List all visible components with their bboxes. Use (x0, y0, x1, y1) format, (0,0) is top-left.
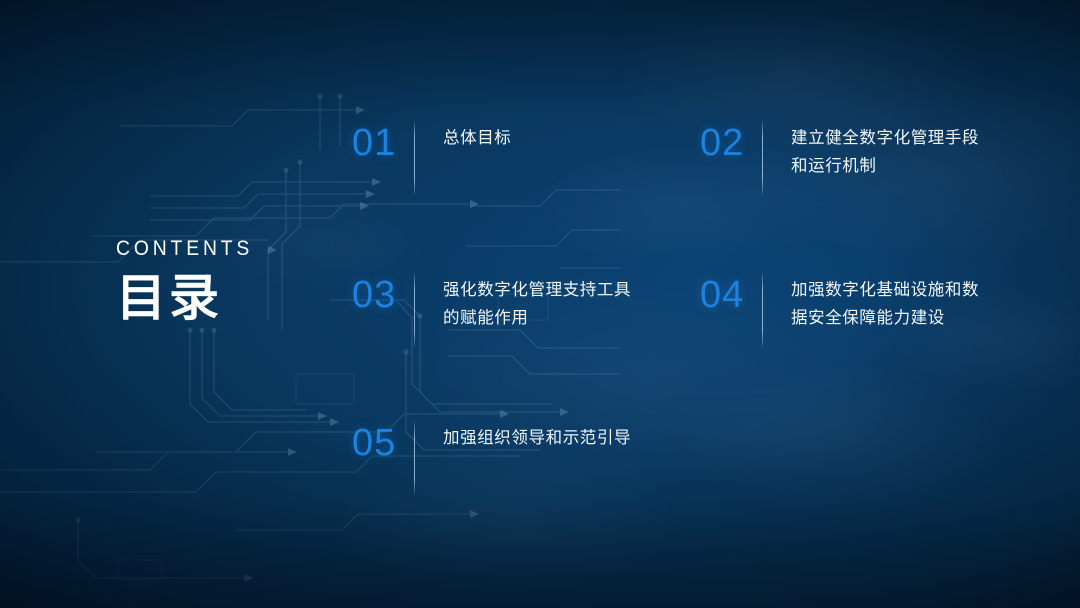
toc-label: 加强组织领导和示范引导 (443, 418, 631, 452)
toc-divider (414, 121, 415, 195)
toc-item-01[interactable]: 01 总体目标 (352, 118, 652, 195)
toc-number: 05 (352, 418, 414, 462)
toc-divider (414, 273, 415, 347)
toc-item-05[interactable]: 05 加强组织领导和示范引导 (352, 418, 652, 495)
toc-item-03[interactable]: 03 强化数字化管理支持工具的赋能作用 (352, 270, 652, 347)
toc-label: 加强数字化基础设施和数据安全保障能力建设 (791, 270, 996, 333)
toc-number: 01 (352, 118, 414, 162)
page-title: 目录 (116, 272, 265, 325)
toc-item-04[interactable]: 04 加强数字化基础设施和数据安全保障能力建设 (700, 270, 1000, 347)
toc-item-02[interactable]: 02 建立健全数字化管理手段和运行机制 (700, 118, 1000, 195)
toc-number: 04 (700, 270, 762, 314)
toc-divider (762, 273, 763, 347)
toc-label: 强化数字化管理支持工具的赋能作用 (443, 270, 648, 333)
toc-divider (762, 121, 763, 195)
toc-label: 总体目标 (443, 118, 511, 152)
toc-number: 03 (352, 270, 414, 314)
presentation-slide: CONTENTS 目录 01 总体目标 02 建立健全数字化管理手段和运行机制 … (0, 0, 1080, 608)
section-heading: CONTENTS 目录 (116, 238, 265, 325)
toc-divider (414, 421, 415, 495)
table-of-contents: 01 总体目标 02 建立健全数字化管理手段和运行机制 03 强化数字化管理支持… (352, 118, 1052, 538)
toc-label: 建立健全数字化管理手段和运行机制 (791, 118, 996, 181)
toc-number: 02 (700, 118, 762, 162)
heading-kicker: CONTENTS (116, 238, 253, 259)
